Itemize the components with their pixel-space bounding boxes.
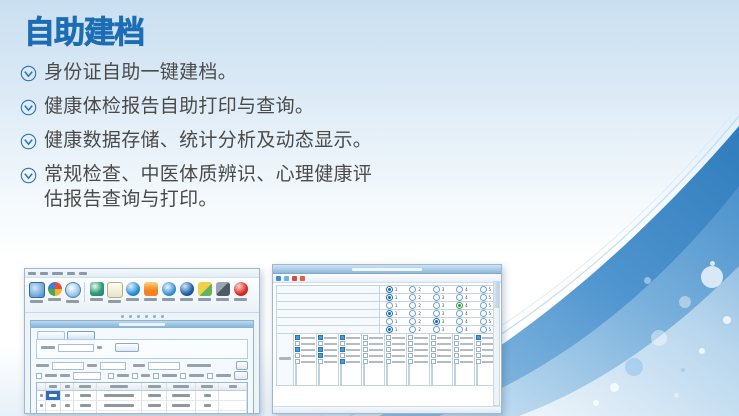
option-3[interactable]: 3 — [427, 302, 450, 309]
field-label — [45, 374, 57, 377]
scale-options[interactable]: 1 2 3 4 5 — [380, 286, 497, 293]
option-4[interactable]: 4 — [450, 302, 473, 309]
grid-header-cell — [97, 383, 142, 390]
toolbar-button-navy[interactable] — [178, 280, 195, 301]
matrix-row-label — [277, 334, 294, 385]
option-4[interactable]: 4 — [450, 310, 473, 317]
option-2[interactable]: 2 — [403, 294, 426, 301]
table-row[interactable] — [37, 411, 247, 414]
note-field[interactable] — [431, 364, 433, 385]
matrix-column[interactable] — [294, 334, 317, 385]
field-label — [141, 374, 150, 377]
option-1[interactable]: 1 — [380, 326, 403, 333]
option-3[interactable]: 3 — [427, 310, 450, 317]
toolbar-button-key[interactable] — [196, 280, 213, 301]
questionnaire-body[interactable]: 1 2 3 4 5 1 2 3 4 5 — [273, 283, 501, 414]
toolbar-separator — [84, 282, 85, 302]
field-label — [87, 364, 97, 367]
toolbar-button-globe[interactable] — [88, 280, 105, 301]
save-icon[interactable] — [276, 276, 281, 281]
query-button[interactable] — [115, 343, 139, 352]
field-label — [60, 374, 70, 377]
toolbar-button-camera[interactable] — [160, 280, 177, 301]
option-3[interactable]: 3 — [427, 318, 450, 325]
scale-options[interactable]: 1 2 3 4 5 — [380, 302, 497, 309]
toolbar-button-blue[interactable] — [124, 280, 141, 301]
field-label — [117, 374, 129, 377]
option-1[interactable]: 1 — [380, 318, 403, 325]
export-icon[interactable] — [300, 276, 305, 281]
table-row[interactable] — [37, 401, 247, 411]
radio-icon[interactable] — [456, 286, 463, 293]
radio-icon[interactable] — [480, 310, 487, 317]
field-label — [216, 374, 231, 377]
magnifier-icon — [65, 282, 81, 298]
list-item-label: 常规检查、中医体质辨识、心理健康评 估报告查询与打印。 — [44, 162, 372, 212]
unit-input[interactable] — [52, 362, 84, 370]
navy-circle-icon — [180, 282, 194, 296]
option-2[interactable]: 2 — [403, 286, 426, 293]
radio-icon[interactable] — [386, 318, 393, 325]
key-icon — [198, 282, 212, 296]
toolbar-button-print[interactable] — [28, 280, 45, 303]
field-label — [41, 346, 55, 349]
radio-icon[interactable] — [456, 302, 463, 309]
list-item-label: 身份证自助一键建档。 — [44, 60, 237, 85]
radio-icon[interactable] — [433, 318, 440, 325]
form-toolbar[interactable] — [273, 274, 501, 283]
blue-circle-icon — [126, 282, 140, 296]
question-row[interactable]: 1 2 3 4 5 — [276, 318, 498, 326]
option-4[interactable]: 4 — [450, 318, 473, 325]
radio-icon[interactable] — [480, 302, 487, 309]
toolbar-button-document[interactable] — [106, 280, 123, 303]
window-title-bar[interactable] — [273, 265, 501, 274]
menu-bar[interactable] — [25, 269, 259, 278]
vertical-scrollbar[interactable] — [493, 281, 500, 406]
radio-icon[interactable] — [409, 286, 416, 293]
list-item: 常规检查、中医体质辨识、心理健康评 估报告查询与打印。 — [20, 162, 490, 212]
date-input[interactable] — [148, 362, 180, 370]
question-row[interactable]: 1 2 3 4 5 — [276, 302, 498, 310]
bar-chart-icon — [144, 282, 158, 296]
list-item: 健康体检报告自助打印与查询。 — [20, 94, 490, 119]
radio-icon[interactable] — [386, 294, 393, 301]
option-2[interactable]: 2 — [403, 318, 426, 325]
checkbox[interactable] — [36, 373, 42, 379]
radio-icon[interactable] — [433, 326, 440, 333]
radio-icon[interactable] — [480, 318, 487, 325]
question-text — [277, 318, 380, 325]
scale-options[interactable]: 1 2 3 4 5 — [380, 326, 497, 333]
tab-bar[interactable] — [31, 328, 253, 339]
scale-options[interactable]: 1 2 3 4 5 — [380, 294, 497, 301]
slide-canvas: 自助建档 身份证自助一键建档。 健康体检报告自助打印与查询。 — [0, 0, 739, 416]
option-2[interactable]: 2 — [403, 310, 426, 317]
option-1[interactable]: 1 — [380, 302, 403, 309]
constitution-matrix[interactable] — [276, 334, 498, 386]
menu-item[interactable] — [79, 272, 87, 275]
radio-icon[interactable] — [456, 294, 463, 301]
open-icon[interactable] — [284, 276, 289, 281]
checkbox[interactable] — [108, 373, 114, 379]
radio-icon[interactable] — [456, 310, 463, 317]
option-2[interactable]: 2 — [403, 302, 426, 309]
chevron-down-circle-icon — [20, 99, 37, 116]
checkbox[interactable] — [207, 373, 213, 379]
field-label — [97, 346, 102, 349]
list-item: 健康数据存储、统计分析及动态显示。 — [20, 128, 490, 153]
grid-header-cell — [61, 383, 74, 390]
radio-icon[interactable] — [386, 326, 393, 333]
checkbox[interactable] — [132, 373, 138, 379]
option-3[interactable]: 3 — [427, 294, 450, 301]
option-4[interactable]: 4 — [450, 294, 473, 301]
question-text — [277, 326, 380, 333]
chevron-down-circle-icon — [20, 65, 37, 82]
radio-icon[interactable] — [480, 286, 487, 293]
option-1[interactable]: 1 — [380, 286, 403, 293]
radio-icon[interactable] — [433, 294, 440, 301]
toolbar-button-chart[interactable] — [142, 280, 159, 301]
mdi-child-window[interactable] — [30, 320, 254, 414]
record-grid[interactable] — [36, 382, 248, 414]
camera-icon — [162, 282, 176, 296]
note-field[interactable] — [295, 364, 297, 385]
date-range-row[interactable] — [41, 344, 243, 351]
option-4[interactable]: 4 — [450, 326, 473, 333]
option-2[interactable]: 2 — [403, 326, 426, 333]
question-text — [277, 286, 380, 293]
scale-options[interactable]: 1 2 3 4 5 — [380, 318, 497, 325]
option-1[interactable]: 1 — [380, 294, 403, 301]
option-1[interactable]: 1 — [380, 310, 403, 317]
radio-icon[interactable] — [456, 318, 463, 325]
print-icon — [29, 282, 45, 298]
power-icon — [234, 282, 248, 296]
matrix-column[interactable] — [339, 334, 362, 385]
question-row[interactable]: 1 2 3 4 5 — [276, 285, 498, 294]
grid-header-cell — [196, 383, 219, 390]
note-field[interactable] — [454, 364, 456, 385]
mdi-title-bar[interactable] — [31, 321, 253, 328]
note-field[interactable] — [363, 364, 365, 385]
question-text — [277, 294, 380, 301]
radio-icon[interactable] — [409, 318, 416, 325]
chevron-down-circle-icon — [20, 133, 37, 150]
grid-header-cell — [37, 383, 46, 390]
field-label — [133, 364, 145, 367]
filter-area[interactable] — [31, 359, 253, 379]
question-row[interactable]: 1 2 3 4 5 — [276, 310, 498, 318]
tools-icon — [216, 282, 230, 296]
question-text — [277, 302, 380, 309]
radio-icon[interactable] — [480, 294, 487, 301]
radio-icon[interactable] — [433, 302, 440, 309]
tab-archive-info[interactable] — [37, 331, 65, 339]
grid-header-row — [37, 383, 247, 391]
toolbar-button-color-wheel[interactable] — [46, 280, 63, 301]
grid-header-cell — [46, 383, 61, 390]
tab-report-print[interactable] — [67, 331, 95, 339]
grid-header-cell — [142, 383, 167, 390]
field-label — [189, 374, 204, 377]
menu-item[interactable] — [52, 272, 63, 275]
matrix-column[interactable] — [430, 334, 453, 385]
radio-icon[interactable] — [480, 326, 487, 333]
grid-header-cell — [167, 383, 196, 390]
field-label — [162, 374, 177, 377]
feature-list: 身份证自助一键建档。 健康体检报告自助打印与查询。 健康数据存储、统计分析及动态… — [20, 60, 490, 221]
document-icon — [107, 282, 123, 298]
grid-header-cell — [219, 383, 247, 390]
note-field[interactable] — [340, 364, 342, 385]
toolbar-button-tools[interactable] — [214, 280, 231, 301]
option-3[interactable]: 3 — [427, 326, 450, 333]
name-input[interactable] — [73, 372, 101, 380]
option-4[interactable]: 4 — [450, 286, 473, 293]
radio-icon[interactable] — [433, 286, 440, 293]
menu-item[interactable] — [67, 272, 75, 275]
checkbox[interactable] — [153, 373, 159, 379]
screenshot-questionnaire[interactable]: 1 2 3 4 5 1 2 3 4 5 — [272, 264, 502, 414]
radio-icon[interactable] — [409, 302, 416, 309]
table-row[interactable] — [37, 391, 247, 401]
toolbar[interactable] — [25, 278, 259, 313]
search-button[interactable] — [234, 371, 248, 380]
option-3[interactable]: 3 — [427, 286, 450, 293]
radio-icon[interactable] — [433, 310, 440, 317]
query-panel[interactable] — [36, 339, 248, 359]
radio-icon[interactable] — [386, 310, 393, 317]
type-input[interactable] — [100, 362, 126, 370]
page-title: 自助建档 — [24, 16, 144, 50]
matrix-column[interactable] — [453, 334, 476, 385]
filter-row-2[interactable] — [36, 372, 248, 379]
filter-row-1[interactable] — [36, 362, 248, 369]
grid-header-cell — [74, 383, 97, 390]
radio-icon[interactable] — [386, 286, 393, 293]
date-from-input[interactable] — [58, 344, 94, 352]
list-item: 身份证自助一键建档。 — [20, 60, 490, 85]
menu-item[interactable] — [28, 272, 36, 275]
radio-icon[interactable] — [409, 326, 416, 333]
scrollbar-thumb[interactable] — [494, 282, 499, 308]
note-field[interactable] — [318, 364, 320, 385]
note-field[interactable] — [386, 364, 388, 385]
globe-icon — [90, 282, 104, 296]
matrix-column[interactable] — [407, 334, 430, 385]
mdi-dot-row — [25, 313, 259, 319]
toolbar-button-exit[interactable] — [232, 280, 249, 301]
question-row[interactable]: 1 2 3 4 5 — [276, 326, 498, 334]
question-row[interactable]: 1 2 3 4 5 — [276, 294, 498, 302]
radio-icon[interactable] — [409, 294, 416, 301]
toolbar-button-search[interactable] — [64, 280, 81, 303]
screenshot-archive-management[interactable] — [24, 268, 260, 414]
note-field[interactable] — [408, 364, 410, 385]
matrix-column[interactable] — [385, 334, 408, 385]
menu-item[interactable] — [40, 272, 48, 275]
list-item-label: 健康体检报告自助打印与查询。 — [44, 94, 314, 119]
field-label — [187, 364, 211, 367]
radio-icon[interactable] — [456, 326, 463, 333]
print-icon[interactable] — [292, 276, 297, 281]
field-label — [36, 364, 49, 367]
radio-icon[interactable] — [386, 302, 393, 309]
more-button[interactable] — [236, 361, 248, 370]
question-text — [277, 310, 380, 317]
matrix-column[interactable] — [362, 334, 385, 385]
scale-options[interactable]: 1 2 3 4 5 — [380, 310, 497, 317]
list-item-label: 健康数据存储、统计分析及动态显示。 — [44, 128, 372, 153]
note-field[interactable] — [476, 364, 478, 385]
checkbox[interactable] — [180, 373, 186, 379]
chevron-down-circle-icon — [20, 167, 37, 184]
matrix-column[interactable] — [317, 334, 340, 385]
status-bar — [273, 406, 501, 413]
radio-icon[interactable] — [409, 310, 416, 317]
color-wheel-icon — [48, 282, 62, 296]
